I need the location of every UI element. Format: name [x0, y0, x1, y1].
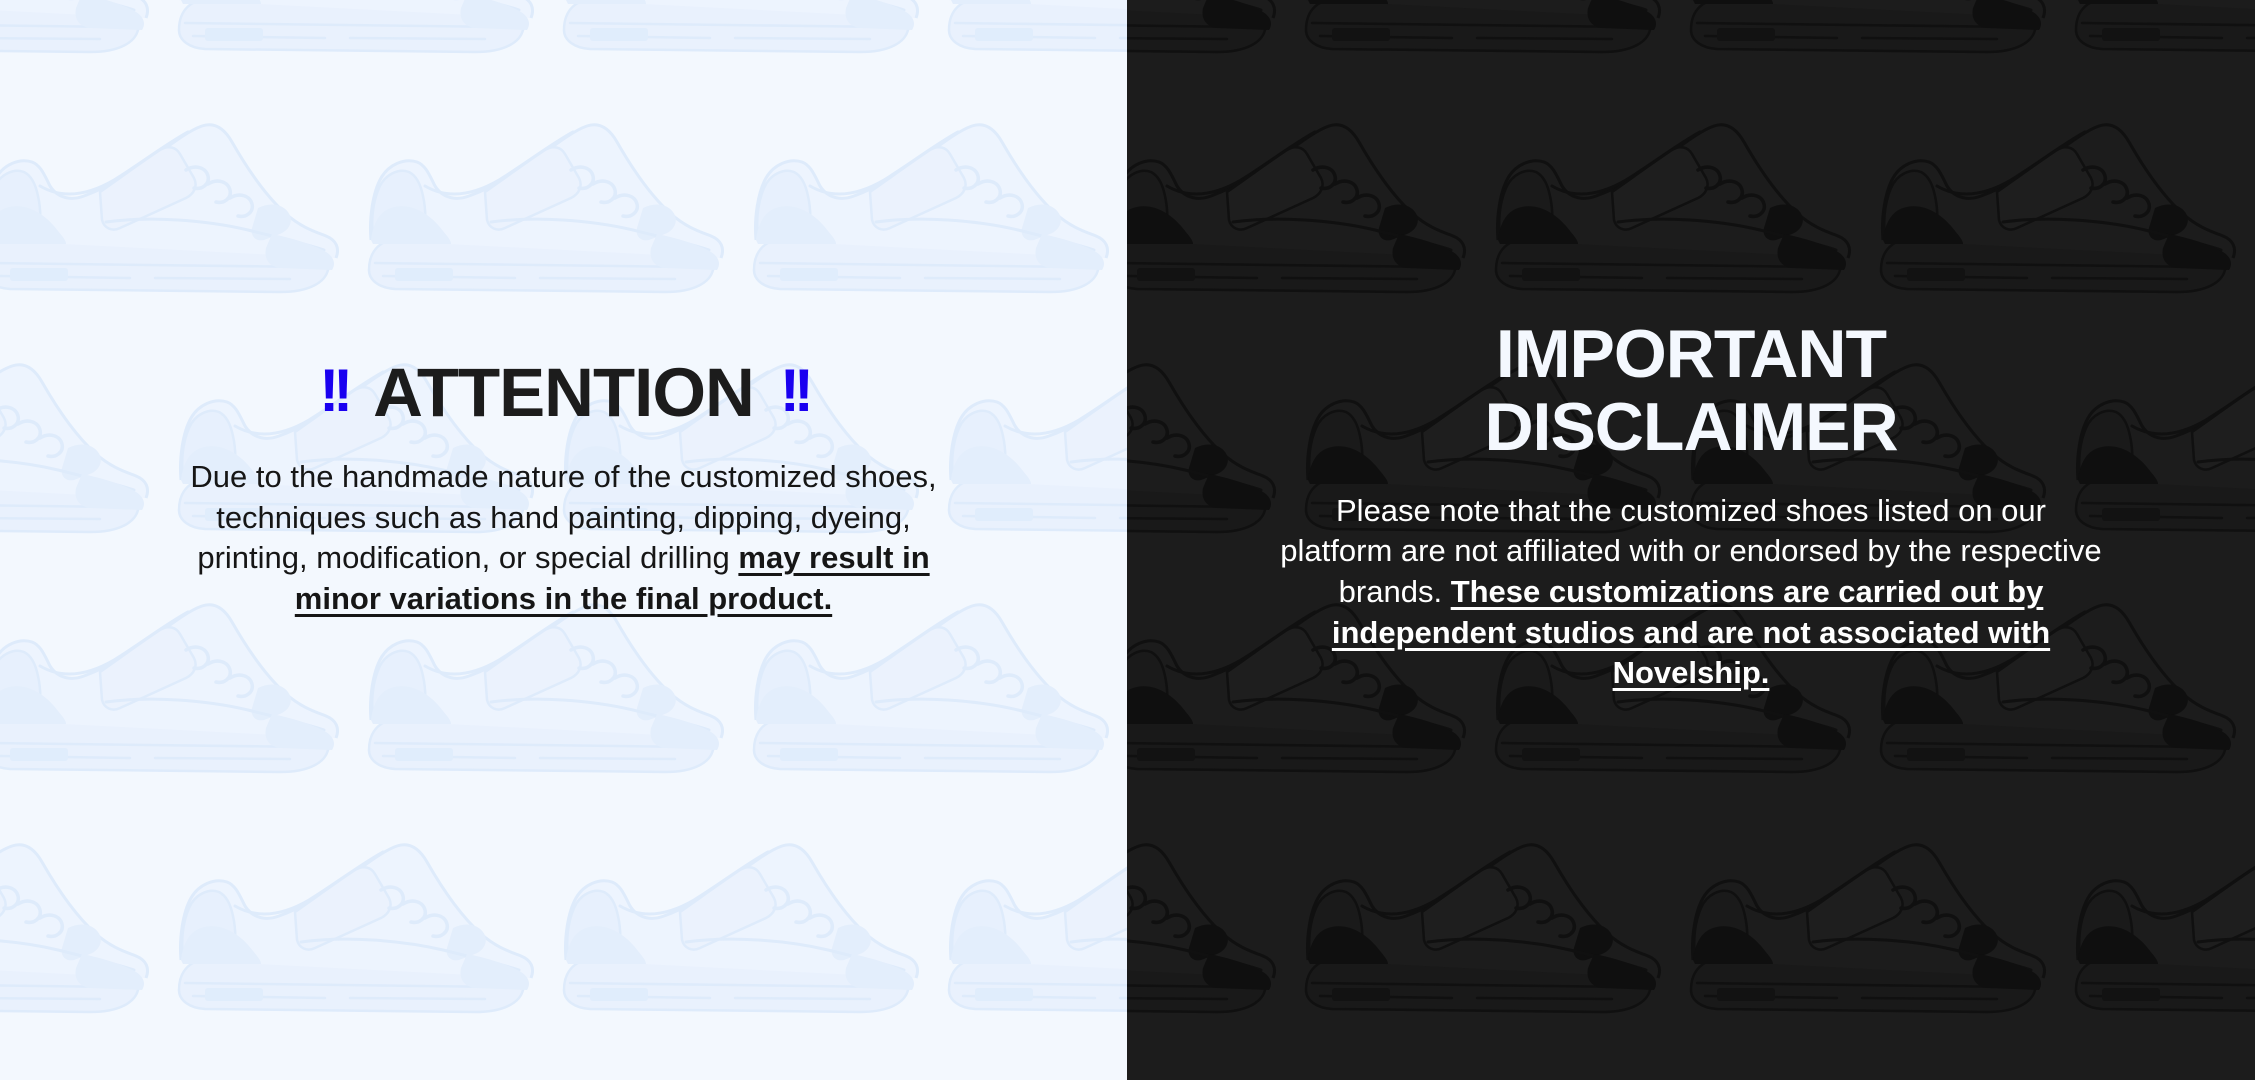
disclaimer-body: Please note that the customized shoes li… — [1276, 491, 2106, 694]
disclaimer-heading-line2: DISCLAIMER — [1484, 389, 1897, 465]
disclaimer-panel: IMPORTANT DISCLAIMER Please note that th… — [1127, 0, 2255, 1080]
attention-body: Due to the handmade nature of the custom… — [158, 457, 970, 619]
disclaimer-banner: !! ATTENTION !! Due to the handmade natu… — [0, 0, 2255, 1080]
double-exclamation-left-icon: !! — [319, 361, 347, 421]
attention-heading: !! ATTENTION !! — [319, 358, 808, 427]
attention-content: !! ATTENTION !! Due to the handmade natu… — [0, 0, 1127, 1080]
disclaimer-heading-line1: IMPORTANT — [1496, 316, 1886, 392]
attention-panel: !! ATTENTION !! Due to the handmade natu… — [0, 0, 1127, 1080]
double-exclamation-right-icon: !! — [780, 361, 808, 421]
attention-heading-text: ATTENTION — [373, 358, 754, 427]
disclaimer-content: IMPORTANT DISCLAIMER Please note that th… — [1127, 0, 2255, 1080]
disclaimer-heading: IMPORTANT DISCLAIMER — [1484, 318, 1897, 465]
